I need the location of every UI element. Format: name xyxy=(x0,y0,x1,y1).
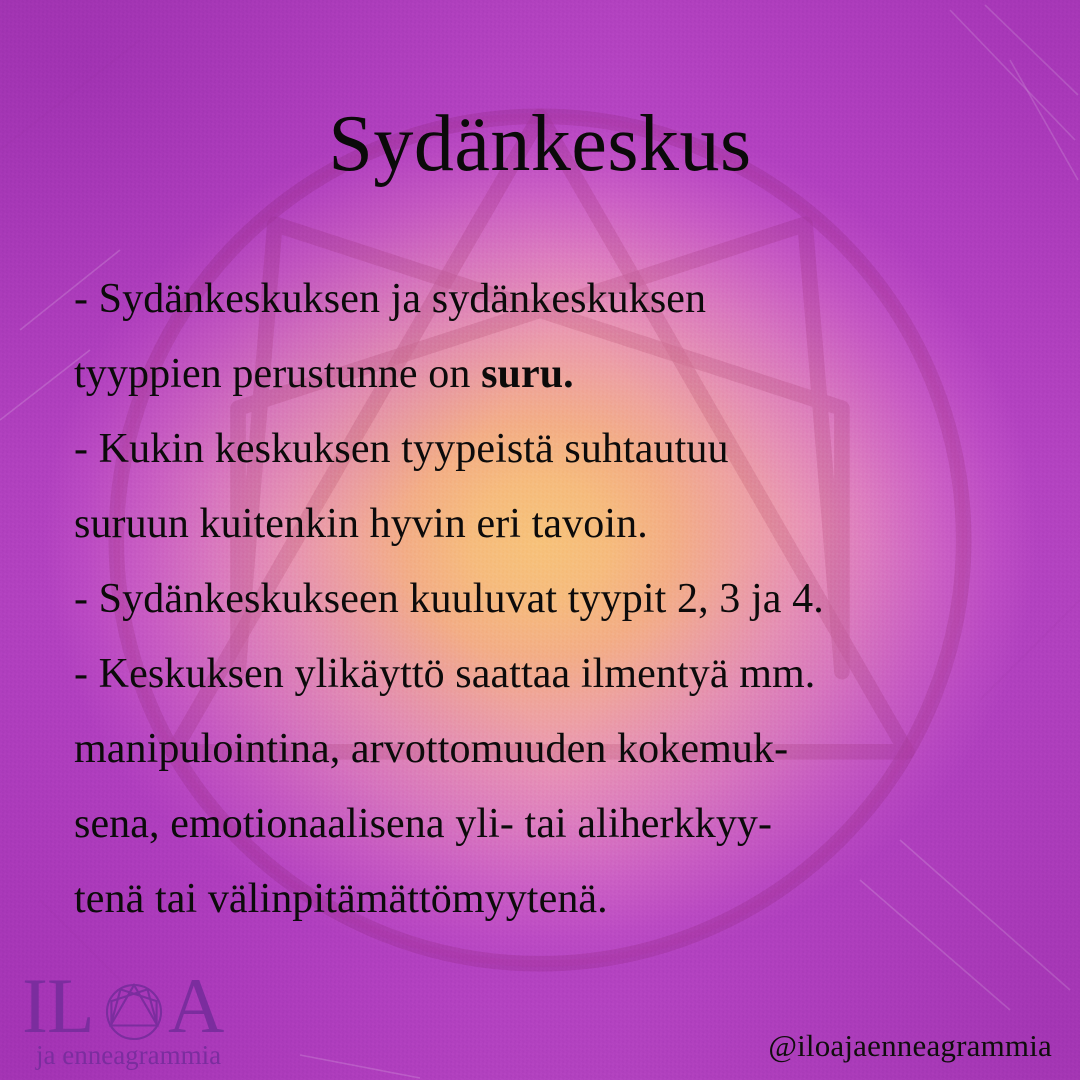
body-line-text: suruun kuitenkin hyvin eri tavoin. xyxy=(74,501,648,547)
brand-logo[interactable]: IL A ja enneagrammia xyxy=(22,966,258,1072)
body-line-text: - Sydänkeskukseen kuuluvat tyypit 2, 3 j… xyxy=(74,576,824,622)
body-line: tenä tai välinpitämättömyytenä. xyxy=(74,862,1040,937)
card-content: Sydänkeskus - Sydänkeskuksen ja sydänkes… xyxy=(0,0,1080,1080)
body-text-block: - Sydänkeskuksen ja sydänkeskuksen tyypp… xyxy=(74,262,1040,937)
body-line: - Sydänkeskukseen kuuluvat tyypit 2, 3 j… xyxy=(74,562,1040,637)
body-line-text: sena, emotionaalisena yli- tai aliherkky… xyxy=(74,801,772,847)
page-title: Sydänkeskus xyxy=(0,104,1080,184)
body-line-text: tyyppien perustunne on xyxy=(74,351,481,397)
body-line: - Kukin keskuksen tyypeistä suhtautuu xyxy=(74,412,1040,487)
logo-wordmark-left: IL xyxy=(22,966,94,1049)
body-line-text: manipulointina, arvottomuuden kokemuk- xyxy=(74,726,788,772)
body-line-text: - Sydänkeskuksen ja sydänkeskuksen xyxy=(74,276,706,322)
body-line: - Sydänkeskuksen ja sydänkeskuksen xyxy=(74,262,1040,337)
logo-tagline: ja enneagrammia xyxy=(35,1040,221,1070)
body-line: sena, emotionaalisena yli- tai aliherkky… xyxy=(74,787,1040,862)
body-line: tyyppien perustunne on suru. xyxy=(74,337,1040,412)
social-post-card: Sydänkeskus - Sydänkeskuksen ja sydänkes… xyxy=(0,0,1080,1080)
body-line: - Keskuksen ylikäyttö saattaa ilmentyä m… xyxy=(74,637,1040,712)
social-handle[interactable]: @iloajaenneagrammia xyxy=(768,1028,1052,1064)
body-line-text: - Kukin keskuksen tyypeistä suhtautuu xyxy=(74,426,729,472)
body-line: manipulointina, arvottomuuden kokemuk- xyxy=(74,712,1040,787)
body-line-text: tenä tai välinpitämättömyytenä. xyxy=(74,876,608,922)
body-line-emphasis: suru. xyxy=(481,351,574,397)
body-line-text: - Keskuksen ylikäyttö saattaa ilmentyä m… xyxy=(74,651,815,697)
body-line: suruun kuitenkin hyvin eri tavoin. xyxy=(74,487,1040,562)
logo-enneagram-icon xyxy=(107,985,161,1039)
logo-wordmark-right: A xyxy=(168,966,224,1049)
